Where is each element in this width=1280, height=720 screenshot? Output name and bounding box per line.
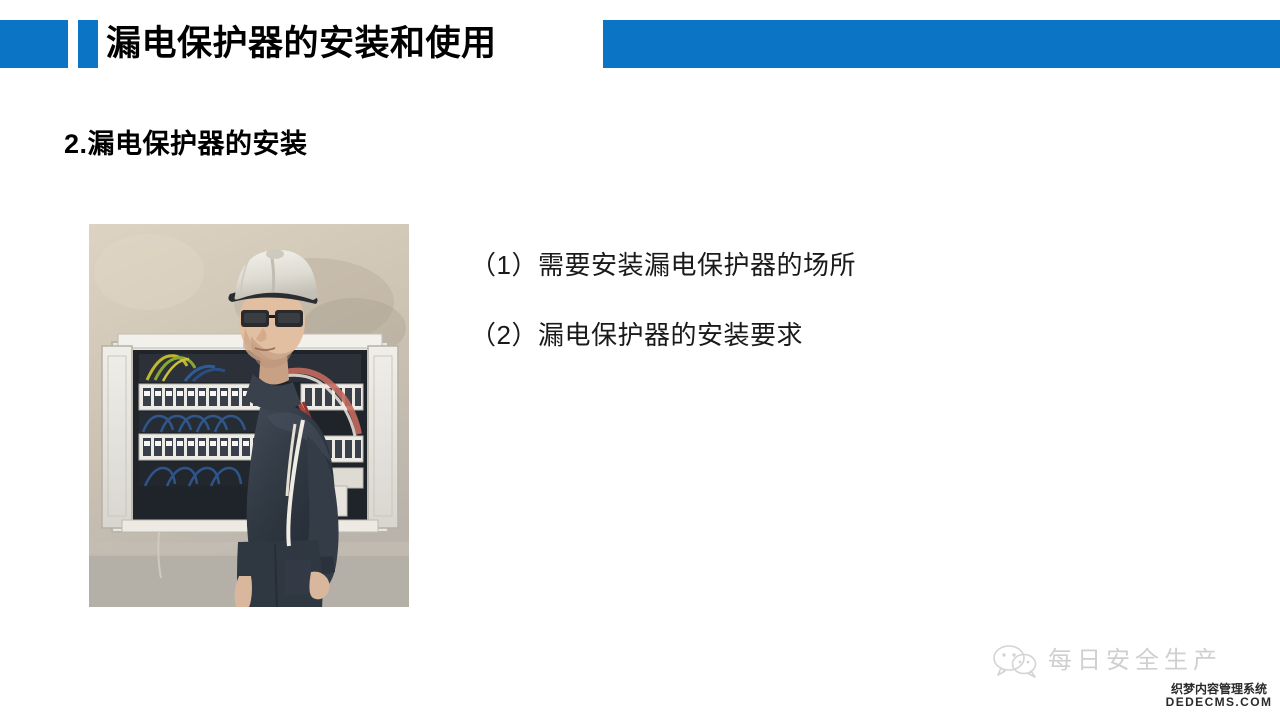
- slide-header: 漏电保护器的安装和使用: [0, 20, 1280, 68]
- header-accent-block-wide: [0, 20, 68, 68]
- wechat-icon: [992, 644, 1038, 678]
- watermark-en-label: DEDECMS.COM: [1163, 696, 1275, 708]
- bullet-item-2: （2）漏电保护器的安装要求: [470, 322, 1110, 348]
- slide-canvas: 漏电保护器的安装和使用 2.漏电保护器的安装: [0, 0, 1280, 720]
- electrician-photo: [89, 224, 409, 607]
- wechat-brand: 每日安全生产: [992, 644, 1222, 678]
- bullet-list: （1）需要安装漏电保护器的场所 （2）漏电保护器的安装要求: [470, 252, 1110, 392]
- header-accent-block-right: [603, 20, 1280, 68]
- dedecms-watermark: 织梦内容管理系统 DEDECMS.COM: [1163, 683, 1275, 708]
- header-accent-block-narrow: [78, 20, 98, 68]
- brand-label: 每日安全生产: [1048, 649, 1222, 673]
- page-title: 漏电保护器的安装和使用: [106, 16, 497, 72]
- section-heading: 2.漏电保护器的安装: [64, 122, 308, 161]
- photo-electrician-distribution-board: [89, 224, 409, 607]
- watermark-cn-label: 织梦内容管理系统: [1163, 683, 1275, 695]
- bullet-item-1: （1）需要安装漏电保护器的场所: [470, 252, 1110, 278]
